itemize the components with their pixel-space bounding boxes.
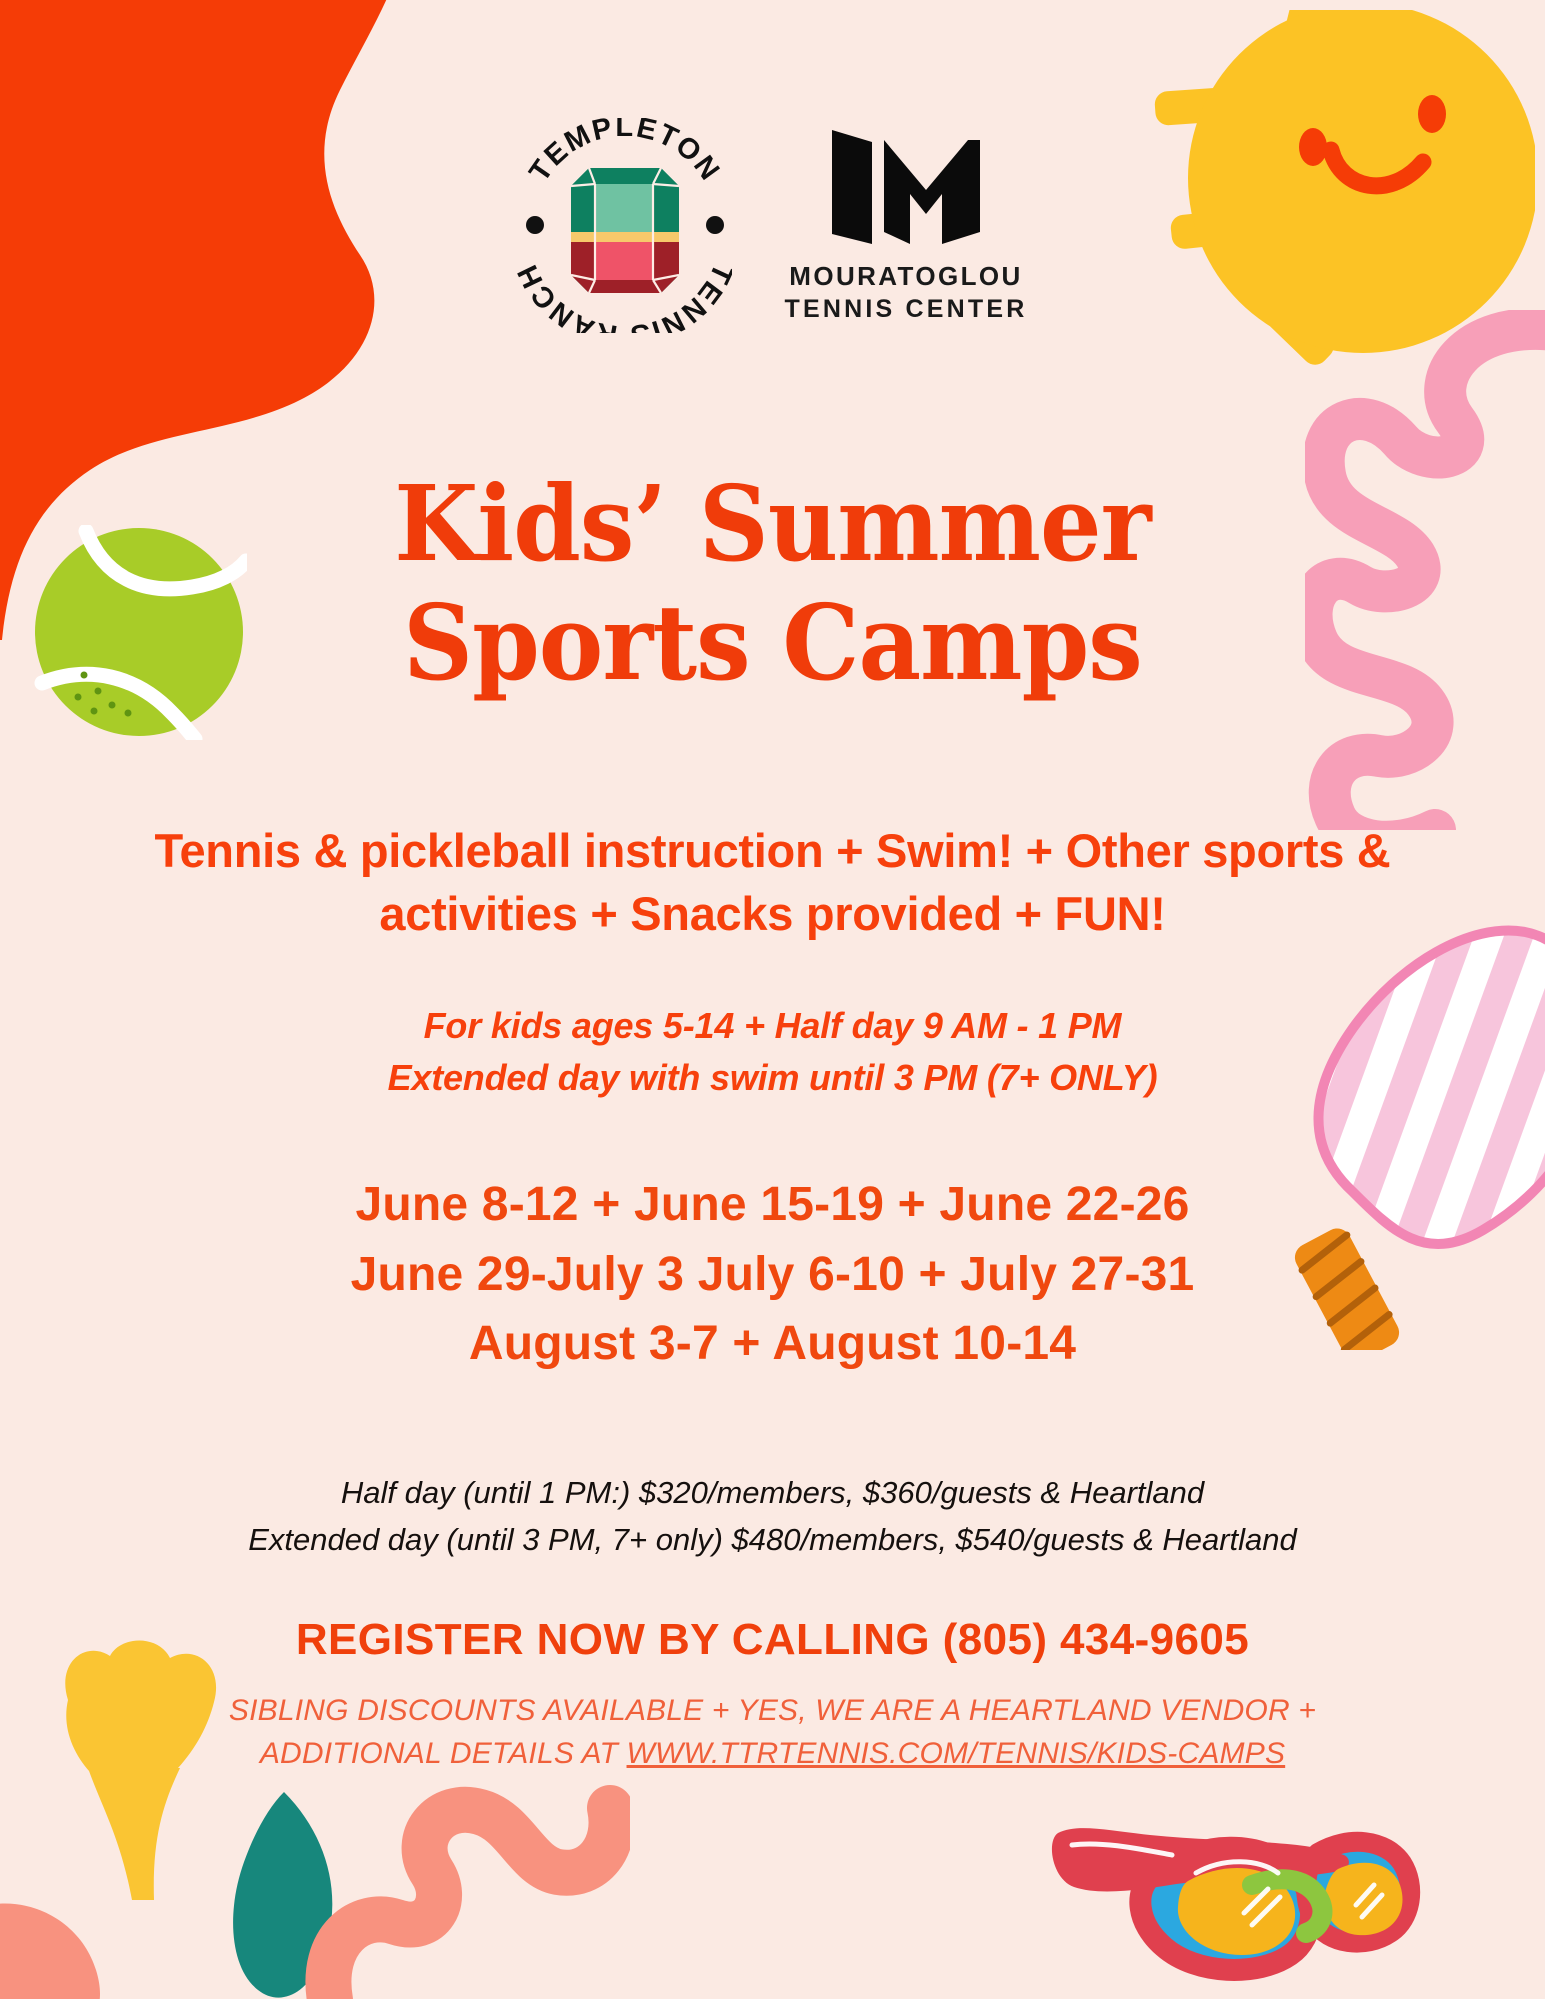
footnote-line-1: SIBLING DISCOUNTS AVAILABLE + YES, WE AR…: [70, 1690, 1475, 1733]
mouratoglou-subtitle: TENNIS CENTER: [784, 293, 1027, 325]
mouratoglou-name: MOURATOGLOU: [789, 260, 1022, 293]
pricing-extended-day: Extended day (until 3 PM, 7+ only) $480/…: [55, 1517, 1490, 1564]
templeton-tennis-ranch-logo: TEMPLETON TENNIS RANCH: [517, 118, 732, 333]
footnote-prefix: ADDITIONAL DETAILS AT: [260, 1737, 627, 1770]
pricing-block: Half day (until 1 PM:) $320/members, $36…: [55, 1470, 1490, 1563]
dates-row-1: June 8-12 + June 15-19 + June 22-26: [90, 1170, 1455, 1240]
register-call-to-action[interactable]: REGISTER NOW BY CALLING (805) 434-9605: [80, 1615, 1465, 1665]
tagline: Tennis & pickleball instruction + Swim! …: [95, 820, 1450, 946]
website-link[interactable]: WWW.TTRTENNIS.COM/TENNIS/KIDS-CAMPS: [627, 1737, 1286, 1770]
age-and-hours-block: For kids ages 5-14 + Half day 9 AM - 1 P…: [120, 1000, 1425, 1104]
logo-row: TEMPLETON TENNIS RANCH: [0, 118, 1545, 333]
page-title: Kids’ Summer Sports Camps: [54, 465, 1491, 702]
title-line-1: Kids’ Summer: [394, 462, 1150, 585]
title-line-2: Sports Camps: [54, 584, 1491, 703]
dates-row-2: June 29-July 3 July 6-10 + July 27-31: [90, 1240, 1455, 1310]
ages-line-2: Extended day with swim until 3 PM (7+ ON…: [120, 1052, 1425, 1104]
footnote-line-2: ADDITIONAL DETAILS AT WWW.TTRTENNIS.COM/…: [70, 1733, 1475, 1776]
poster-content: TEMPLETON TENNIS RANCH: [0, 0, 1545, 1999]
gem-icon: [571, 168, 679, 293]
footnotes: SIBLING DISCOUNTS AVAILABLE + YES, WE AR…: [70, 1690, 1475, 1775]
poster-canvas: TEMPLETON TENNIS RANCH: [0, 0, 1545, 1999]
pricing-half-day: Half day (until 1 PM:) $320/members, $36…: [55, 1470, 1490, 1517]
dates-row-3: August 3-7 + August 10-14: [90, 1309, 1455, 1379]
ages-line-1: For kids ages 5-14 + Half day 9 AM - 1 P…: [120, 1000, 1425, 1052]
session-dates: June 8-12 + June 15-19 + June 22-26 June…: [90, 1170, 1455, 1379]
m-monogram-icon: [826, 126, 986, 246]
mouratoglou-logo: MOURATOGLOU TENNIS CENTER: [784, 118, 1027, 325]
